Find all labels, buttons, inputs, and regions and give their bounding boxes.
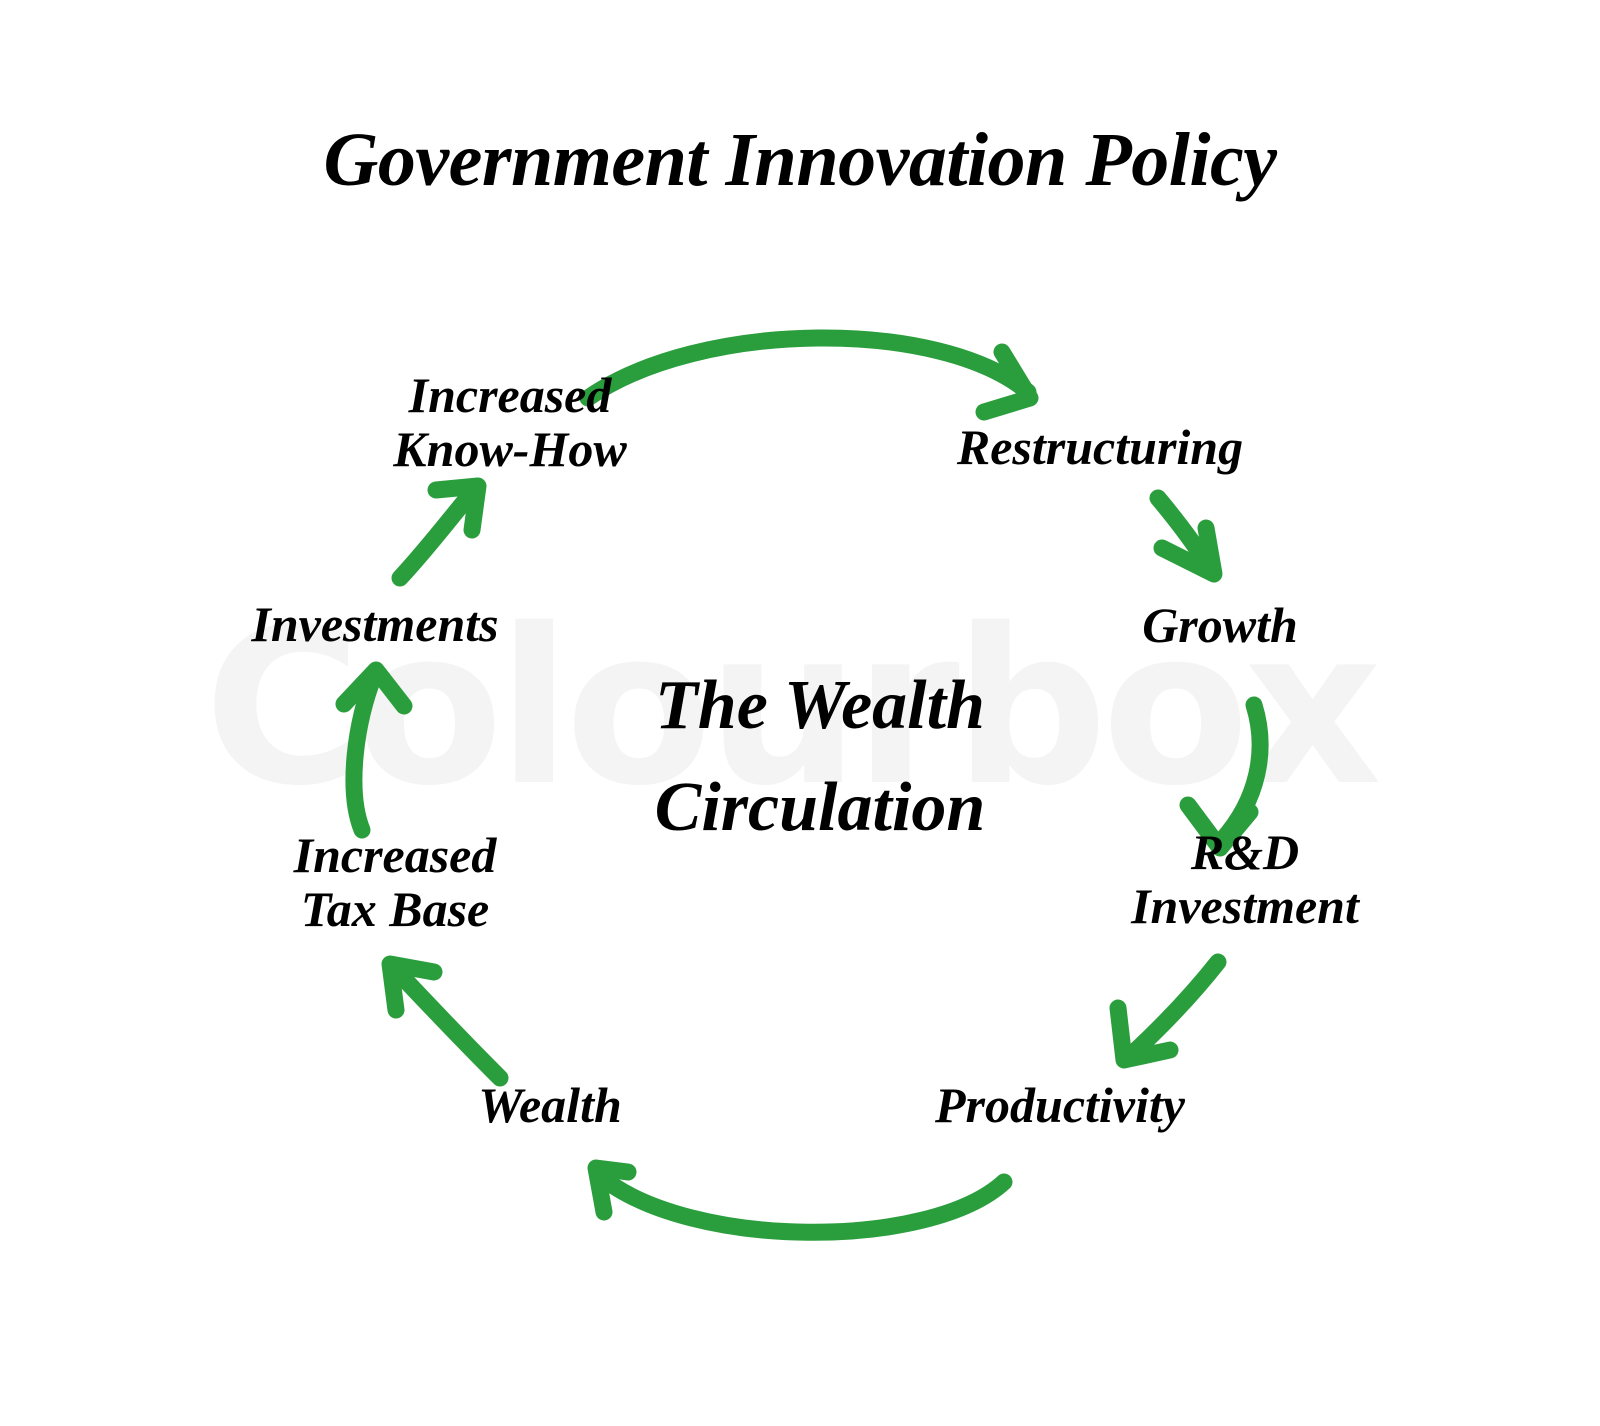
node-label-line-2: Tax Base (230, 882, 560, 936)
node-rd-investment: R&D Investment (1055, 825, 1435, 933)
node-label-line-2: Investment (1055, 879, 1435, 933)
node-increased-know-how: Increased Know-How (330, 368, 690, 476)
node-label-line-2: Know-How (330, 422, 690, 476)
node-label-line-1: R&D (1055, 825, 1435, 879)
arrow-restructuring-to-growth (1158, 498, 1214, 574)
node-label-line-1: Productivity (850, 1078, 1270, 1132)
center-label-line-2: Circulation (520, 757, 1120, 859)
node-productivity: Productivity (850, 1078, 1270, 1132)
node-restructuring: Restructuring (860, 420, 1340, 474)
center-label-line-1: The Wealth (520, 655, 1120, 757)
node-wealth: Wealth (400, 1078, 700, 1132)
node-investments: Investments (175, 597, 575, 651)
node-label-line-1: Wealth (400, 1078, 700, 1132)
node-increased-tax-base: Increased Tax Base (230, 828, 560, 936)
node-label-line-1: Investments (175, 597, 575, 651)
arrow-productivity-to-wealth (596, 1168, 1004, 1232)
node-label-line-1: Restructuring (860, 420, 1340, 474)
diagram-canvas: Colourbox Government Innovation Policy (0, 0, 1600, 1426)
node-label-line-1: Increased (230, 828, 560, 882)
center-label: The Wealth Circulation (520, 655, 1120, 858)
arrow-wealth-to-taxbase (390, 964, 500, 1078)
node-label-line-1: Increased (330, 368, 690, 422)
node-growth: Growth (1055, 598, 1385, 652)
arrow-taxbase-to-investments (344, 670, 404, 830)
arrow-investments-to-knowhow (400, 486, 478, 578)
node-label-line-1: Growth (1055, 598, 1385, 652)
arrow-rd-to-productivity (1118, 962, 1218, 1060)
